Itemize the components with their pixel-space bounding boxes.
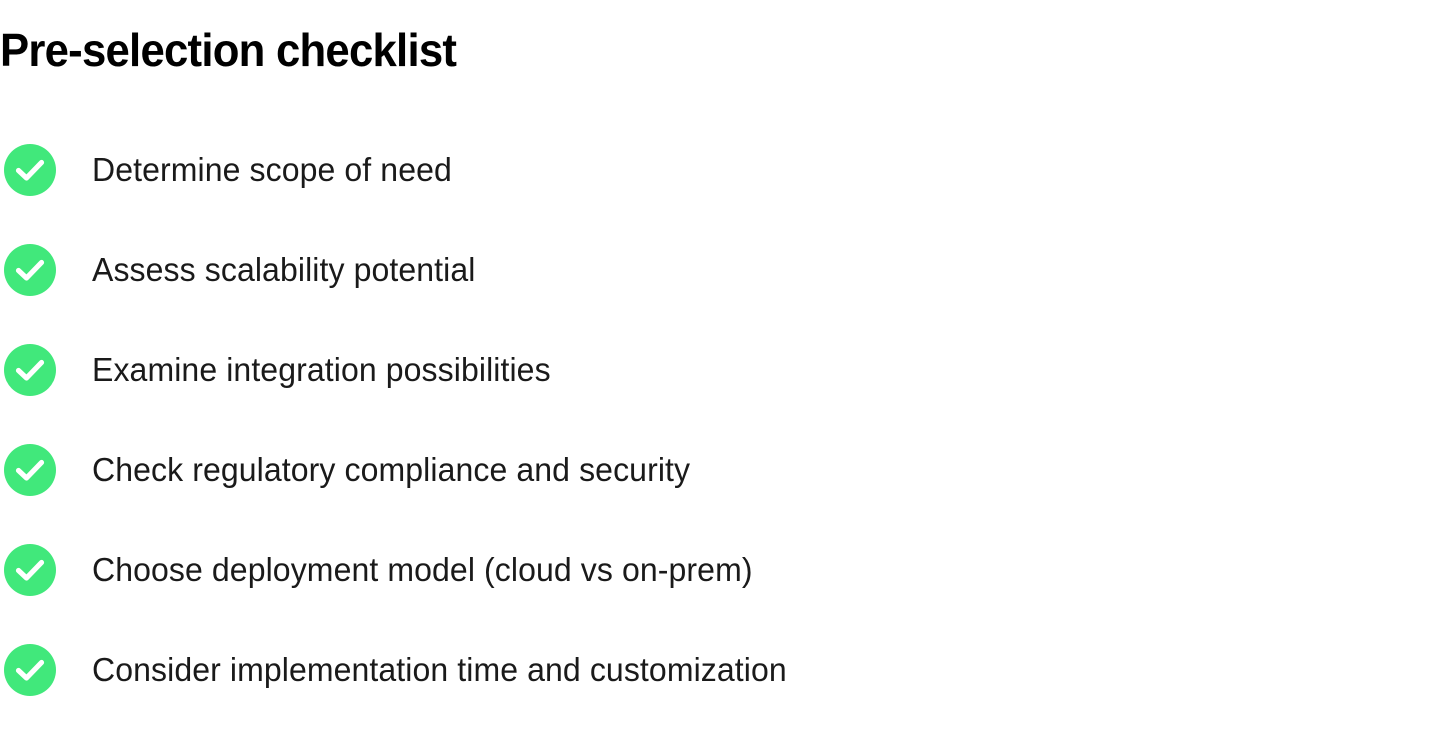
check-circle-icon xyxy=(2,644,58,696)
check-circle-icon xyxy=(2,244,58,296)
list-item[interactable]: Examine integration possibilities xyxy=(0,344,1440,396)
list-item-label: Examine integration possibilities xyxy=(92,344,551,396)
check-circle-icon xyxy=(2,544,58,596)
check-circle-icon xyxy=(2,344,58,396)
checklist: Determine scope of need Assess scalabili… xyxy=(0,144,1440,696)
check-circle-icon xyxy=(2,444,58,496)
list-item-label: Choose deployment model (cloud vs on-pre… xyxy=(92,544,753,596)
list-item[interactable]: Assess scalability potential xyxy=(0,244,1440,296)
list-item[interactable]: Check regulatory compliance and security xyxy=(0,444,1440,496)
list-item[interactable]: Choose deployment model (cloud vs on-pre… xyxy=(0,544,1440,596)
checklist-page: Pre-selection checklist Determine scope … xyxy=(0,0,1440,750)
list-item[interactable]: Consider implementation time and customi… xyxy=(0,644,1440,696)
list-item-label: Consider implementation time and customi… xyxy=(92,644,787,696)
list-item-label: Assess scalability potential xyxy=(92,244,475,296)
list-item-label: Determine scope of need xyxy=(92,144,452,196)
list-item[interactable]: Determine scope of need xyxy=(0,144,1440,196)
list-item-label: Check regulatory compliance and security xyxy=(92,444,690,496)
page-title: Pre-selection checklist xyxy=(0,16,456,84)
check-circle-icon xyxy=(2,144,58,196)
